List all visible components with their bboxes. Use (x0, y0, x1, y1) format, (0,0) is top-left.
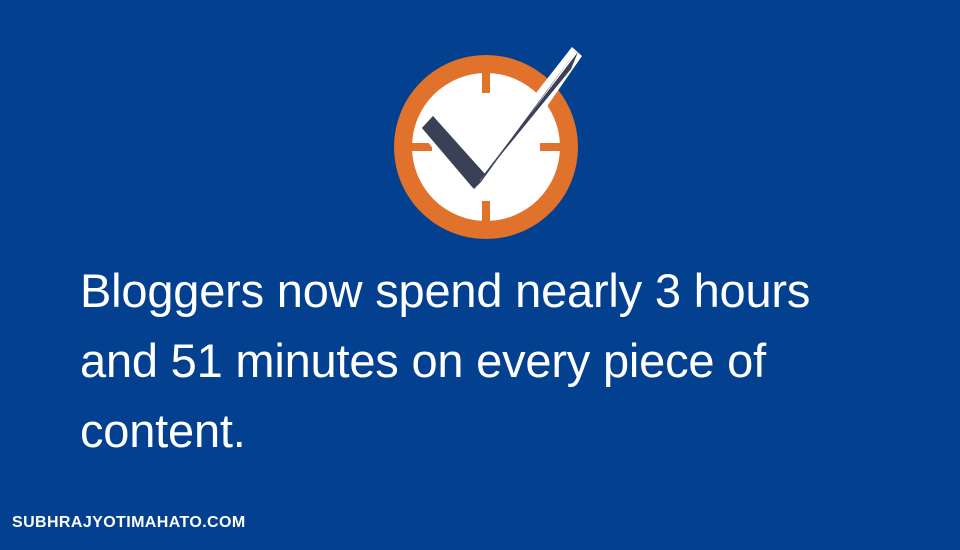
clock-tick-9-icon (412, 143, 432, 151)
clock-tick-6-icon (482, 201, 490, 221)
clock-tick-12-icon (482, 73, 490, 93)
page-title: Bloggers now spend nearly 3 hours and 51… (80, 256, 880, 466)
clock-check-icon-svg (386, 42, 586, 246)
clock-check-icon (386, 42, 586, 246)
stat-card: Bloggers now spend nearly 3 hours and 51… (0, 0, 960, 550)
clock-tick-3-icon (540, 143, 560, 151)
site-watermark: SUBHRAJYOTIMAHATO.COM (12, 513, 246, 533)
